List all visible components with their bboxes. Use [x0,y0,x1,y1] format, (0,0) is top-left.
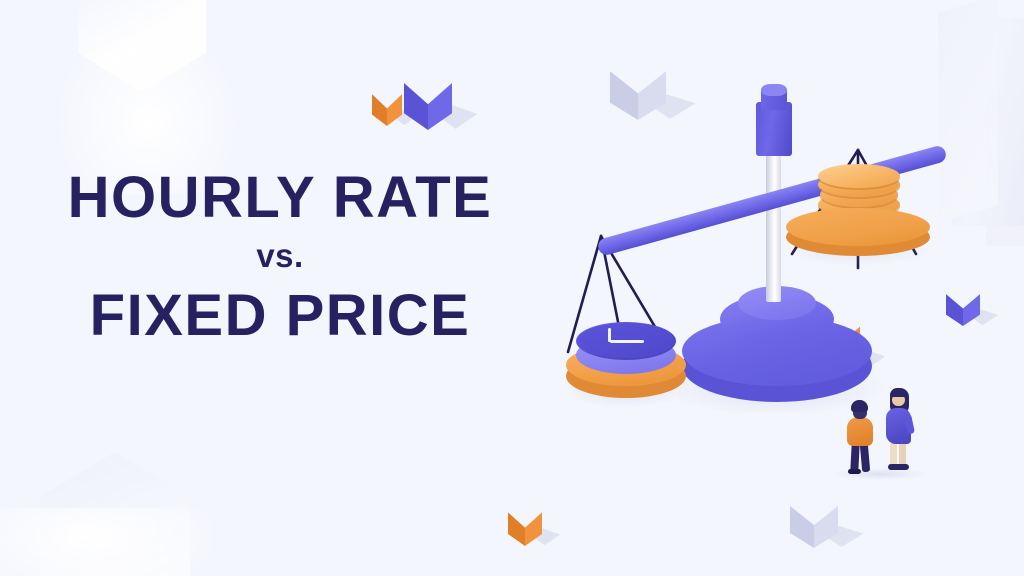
book-leaf-left [404,74,428,130]
book-orange-small-icon [372,88,402,126]
man-leg-left [850,443,860,472]
scale-pan-left-clock [560,326,690,412]
book-leaf-left [372,88,387,126]
woman-figure [882,388,918,472]
scale-pan-right-coins [778,156,938,266]
hexagon-bottom-left-shape [40,452,190,576]
book-leaf-left [508,506,525,546]
slab-right-edge-shape [986,96,1024,246]
man-shoe [848,469,861,474]
book-leaf-left [790,498,814,548]
coin-icon-top [818,164,900,188]
book-purple-top-icon [404,74,452,130]
scale-fulcrum [756,102,792,156]
book-ghost-bottom-icon [790,498,838,548]
people-group [830,378,934,482]
scale-fulcrum-cap-top [761,84,787,96]
title-line-fixed-price: FIXED PRICE [0,286,560,345]
hexagon-top-left-shape [78,0,206,92]
man-hair [851,400,868,412]
man-figure [844,400,878,474]
woman-shoes [888,464,909,470]
poster-canvas: HOURLY RATE vs. FIXED PRICE [0,0,1024,576]
book-orange-bottom-icon [508,506,542,546]
woman-hair-front [890,388,905,397]
title-line-hourly-rate: HOURLY RATE [0,168,560,227]
title-line-versus: vs. [0,239,560,272]
headline-block: HOURLY RATE vs. FIXED PRICE [0,168,560,345]
man-torso [847,417,873,446]
glow-bottom-left [0,508,220,576]
man-leg-right [860,443,870,473]
clock-hour-hand [610,340,644,343]
pan-dish-upper [786,208,930,246]
